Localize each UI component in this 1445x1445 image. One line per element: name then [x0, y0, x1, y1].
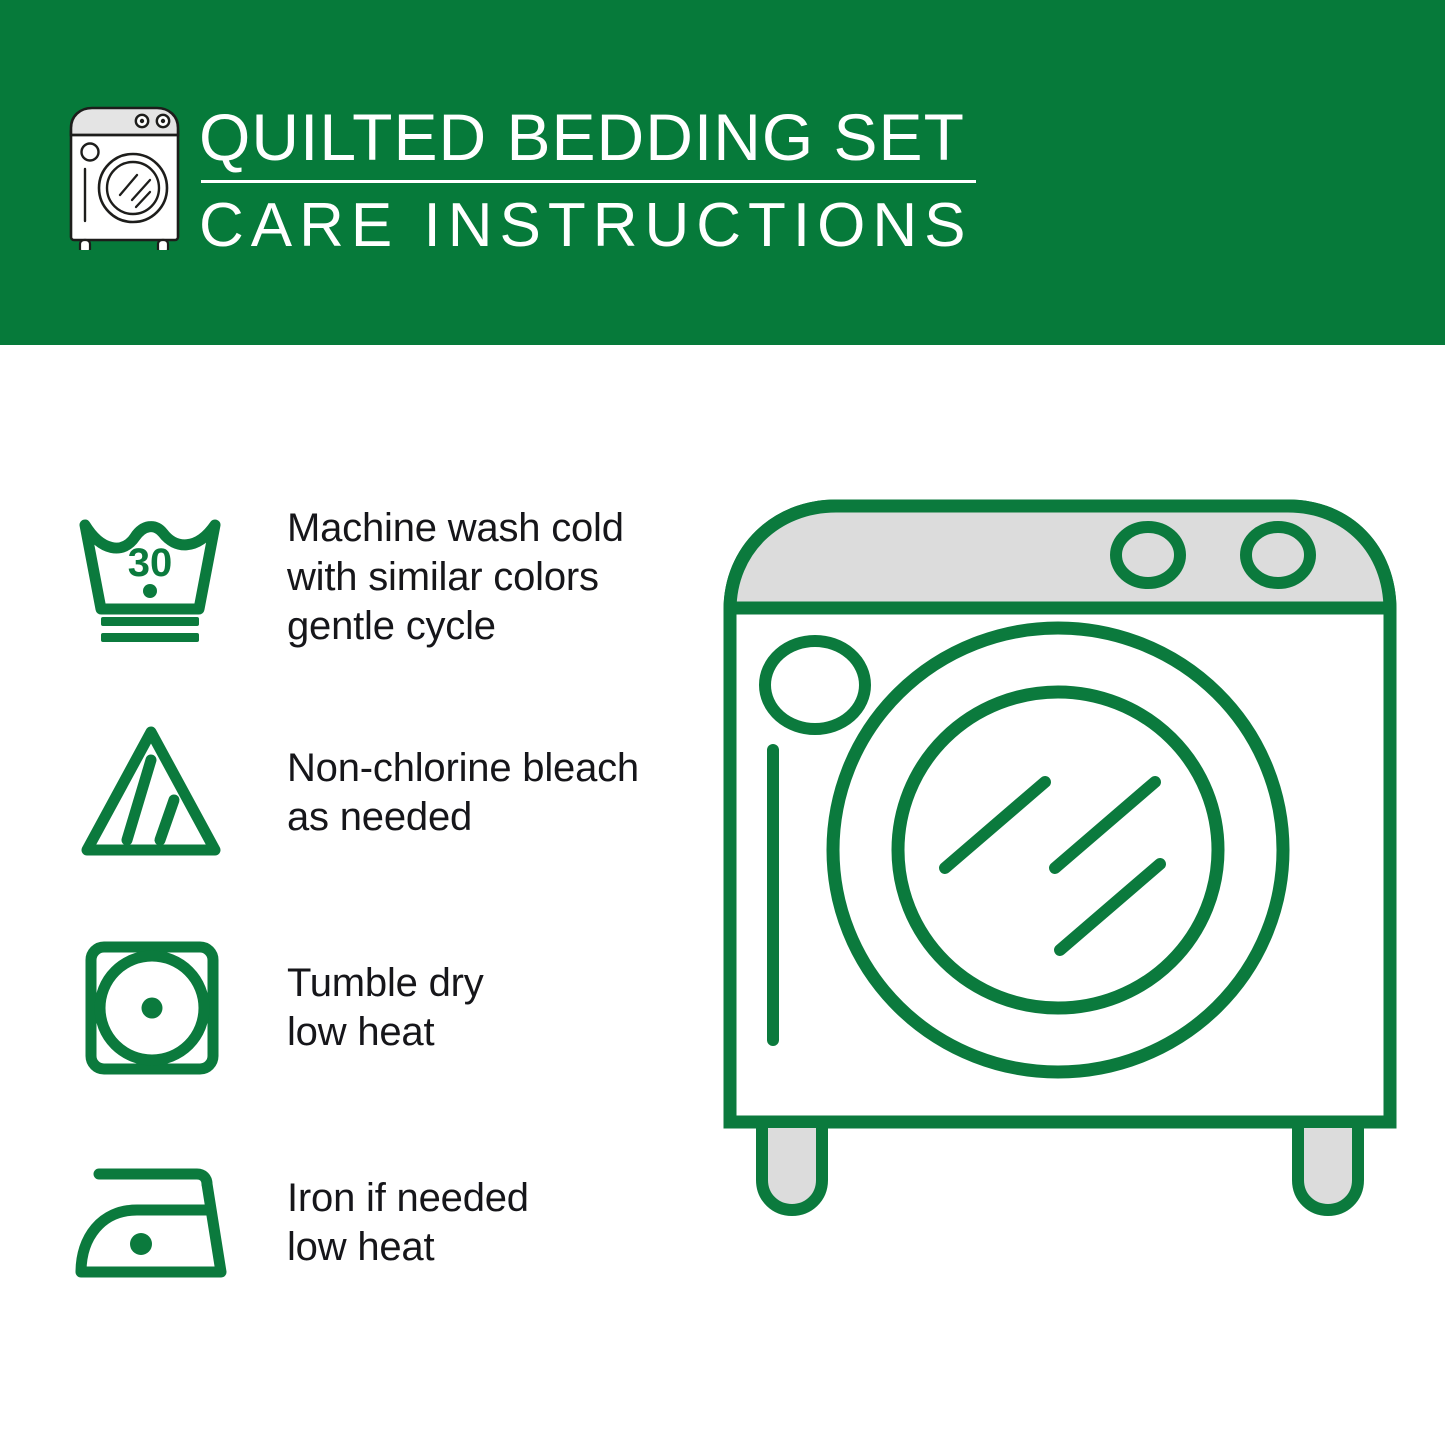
care-label-line: gentle cycle: [287, 602, 624, 651]
care-label-line: low heat: [287, 1008, 484, 1057]
care-label: Tumble dry low heat: [287, 959, 484, 1057]
drum-door-inner: [898, 692, 1218, 1008]
care-row: Tumble dry low heat: [70, 900, 690, 1115]
machine-leg-right: [1298, 1122, 1358, 1210]
machine-leg-left: [762, 1122, 822, 1210]
care-instructions-page: QUILTED BEDDING SET CARE INSTRUCTIONS 30: [0, 0, 1445, 1445]
care-label-line: Machine wash cold: [287, 504, 624, 553]
wash-tub-30-gentle-icon: 30: [70, 503, 245, 653]
wash-temperature-value: 30: [128, 541, 173, 585]
iron-low-heat-icon: [70, 1148, 245, 1298]
care-label: Iron if needed low heat: [287, 1174, 529, 1272]
header-banner: QUILTED BEDDING SET CARE INSTRUCTIONS: [0, 0, 1445, 345]
tumble-dry-low-icon: [70, 933, 245, 1083]
care-instructions-list: 30 Machine wash cold with similar colors…: [70, 470, 690, 1330]
washing-machine-icon: [62, 100, 187, 250]
care-label-line: as needed: [287, 793, 639, 842]
front-load-washing-machine-illustration: [700, 450, 1420, 1370]
care-label-line: Non-chlorine bleach: [287, 744, 639, 793]
indicator-light: [765, 641, 865, 729]
care-label-line: with similar colors: [287, 553, 624, 602]
header-content: QUILTED BEDDING SET CARE INSTRUCTIONS: [62, 100, 976, 261]
title-divider: [201, 180, 976, 183]
care-label-line: Iron if needed: [287, 1174, 529, 1223]
control-knob-left: [1116, 527, 1180, 583]
care-label-line: low heat: [287, 1223, 529, 1272]
page-title: QUILTED BEDDING SET: [199, 100, 976, 174]
care-row: Iron if needed low heat: [70, 1115, 690, 1330]
care-label: Non-chlorine bleach as needed: [287, 744, 639, 842]
control-knob-right: [1246, 527, 1310, 583]
care-row: 30 Machine wash cold with similar colors…: [70, 470, 690, 685]
page-subtitle: CARE INSTRUCTIONS: [199, 191, 976, 261]
care-row: Non-chlorine bleach as needed: [70, 685, 690, 900]
non-chlorine-bleach-triangle-icon: [70, 718, 245, 868]
care-label: Machine wash cold with similar colors ge…: [287, 504, 624, 651]
care-label-line: Tumble dry: [287, 959, 484, 1008]
header-text-block: QUILTED BEDDING SET CARE INSTRUCTIONS: [199, 100, 976, 261]
